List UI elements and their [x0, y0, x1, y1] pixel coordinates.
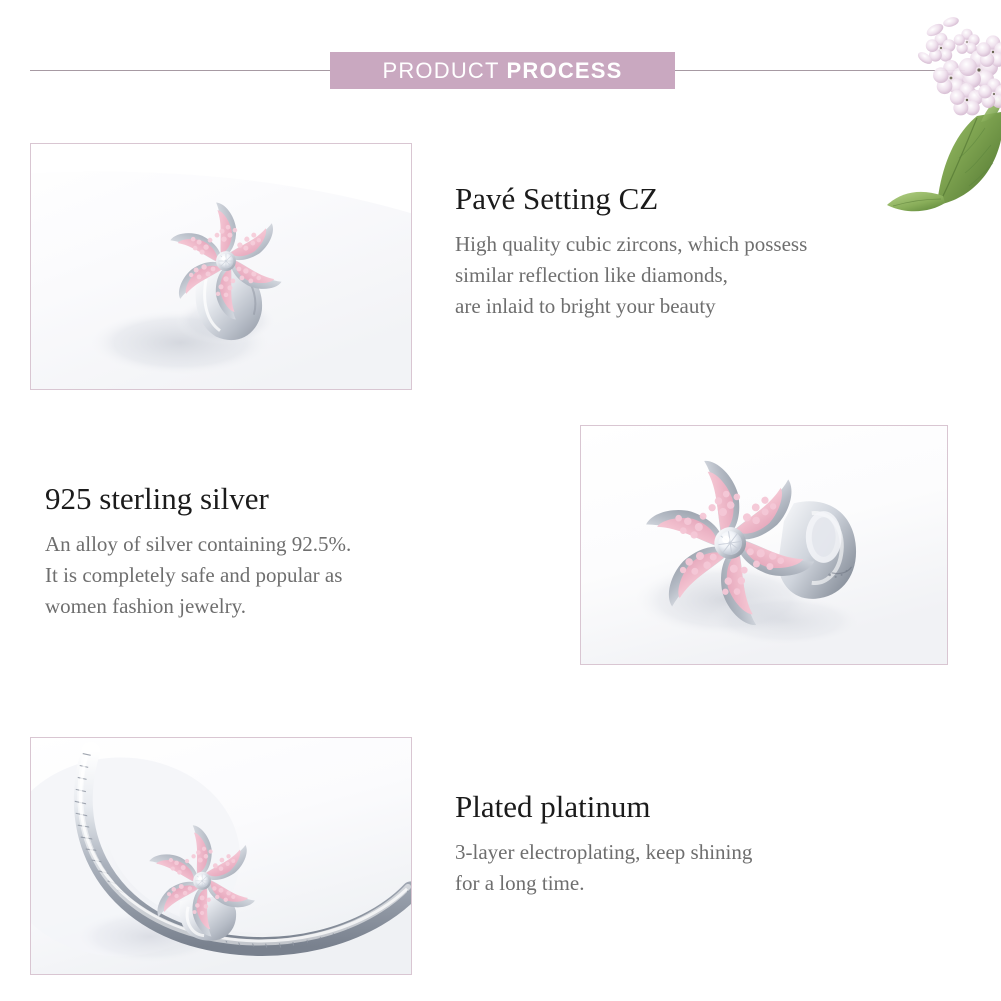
page-title-emphasis: PROCESS — [507, 58, 623, 83]
page-title-prefix: PRODUCT — [382, 58, 506, 83]
feature-body-line: It is completely safe and popular as — [45, 560, 525, 591]
feature-text-block-1: Pavé Setting CZ High quality cubic zirco… — [455, 180, 975, 322]
sakura-charm-front-view-photo — [30, 143, 412, 390]
feature-text-block-2: 925 sterling silver An alloy of silver c… — [45, 480, 525, 622]
feature-heading-3: Plated platinum — [455, 788, 935, 825]
feature-body-line: An alloy of silver containing 92.5%. — [45, 529, 525, 560]
sakura-charm-on-bracelet-photo — [30, 737, 412, 975]
flower-cluster — [916, 16, 1001, 116]
feature-body-line: similar reflection like diamonds, — [455, 260, 975, 291]
feature-body-line: 3-layer electroplating, keep shining — [455, 837, 935, 868]
feature-heading-2: 925 sterling silver — [45, 480, 525, 517]
feature-body-line: women fashion jewelry. — [45, 591, 525, 622]
feature-body-1: High quality cubic zircons, which posses… — [455, 229, 975, 322]
feature-body-2: An alloy of silver containing 92.5%. It … — [45, 529, 525, 622]
page-title: PRODUCT PROCESS — [382, 58, 622, 84]
feature-text-block-3: Plated platinum 3-layer electroplating, … — [455, 788, 935, 899]
feature-heading-1: Pavé Setting CZ — [455, 180, 975, 217]
feature-body-3: 3-layer electroplating, keep shining for… — [455, 837, 935, 899]
feature-body-line: High quality cubic zircons, which posses… — [455, 229, 975, 260]
feature-body-line: are inlaid to bright your beauty — [455, 291, 975, 322]
feature-body-line: for a long time. — [455, 868, 935, 899]
sakura-charm-angled-closeup-photo — [580, 425, 948, 665]
page-title-banner: PRODUCT PROCESS — [330, 52, 675, 89]
page-header: PRODUCT PROCESS — [0, 0, 1001, 140]
